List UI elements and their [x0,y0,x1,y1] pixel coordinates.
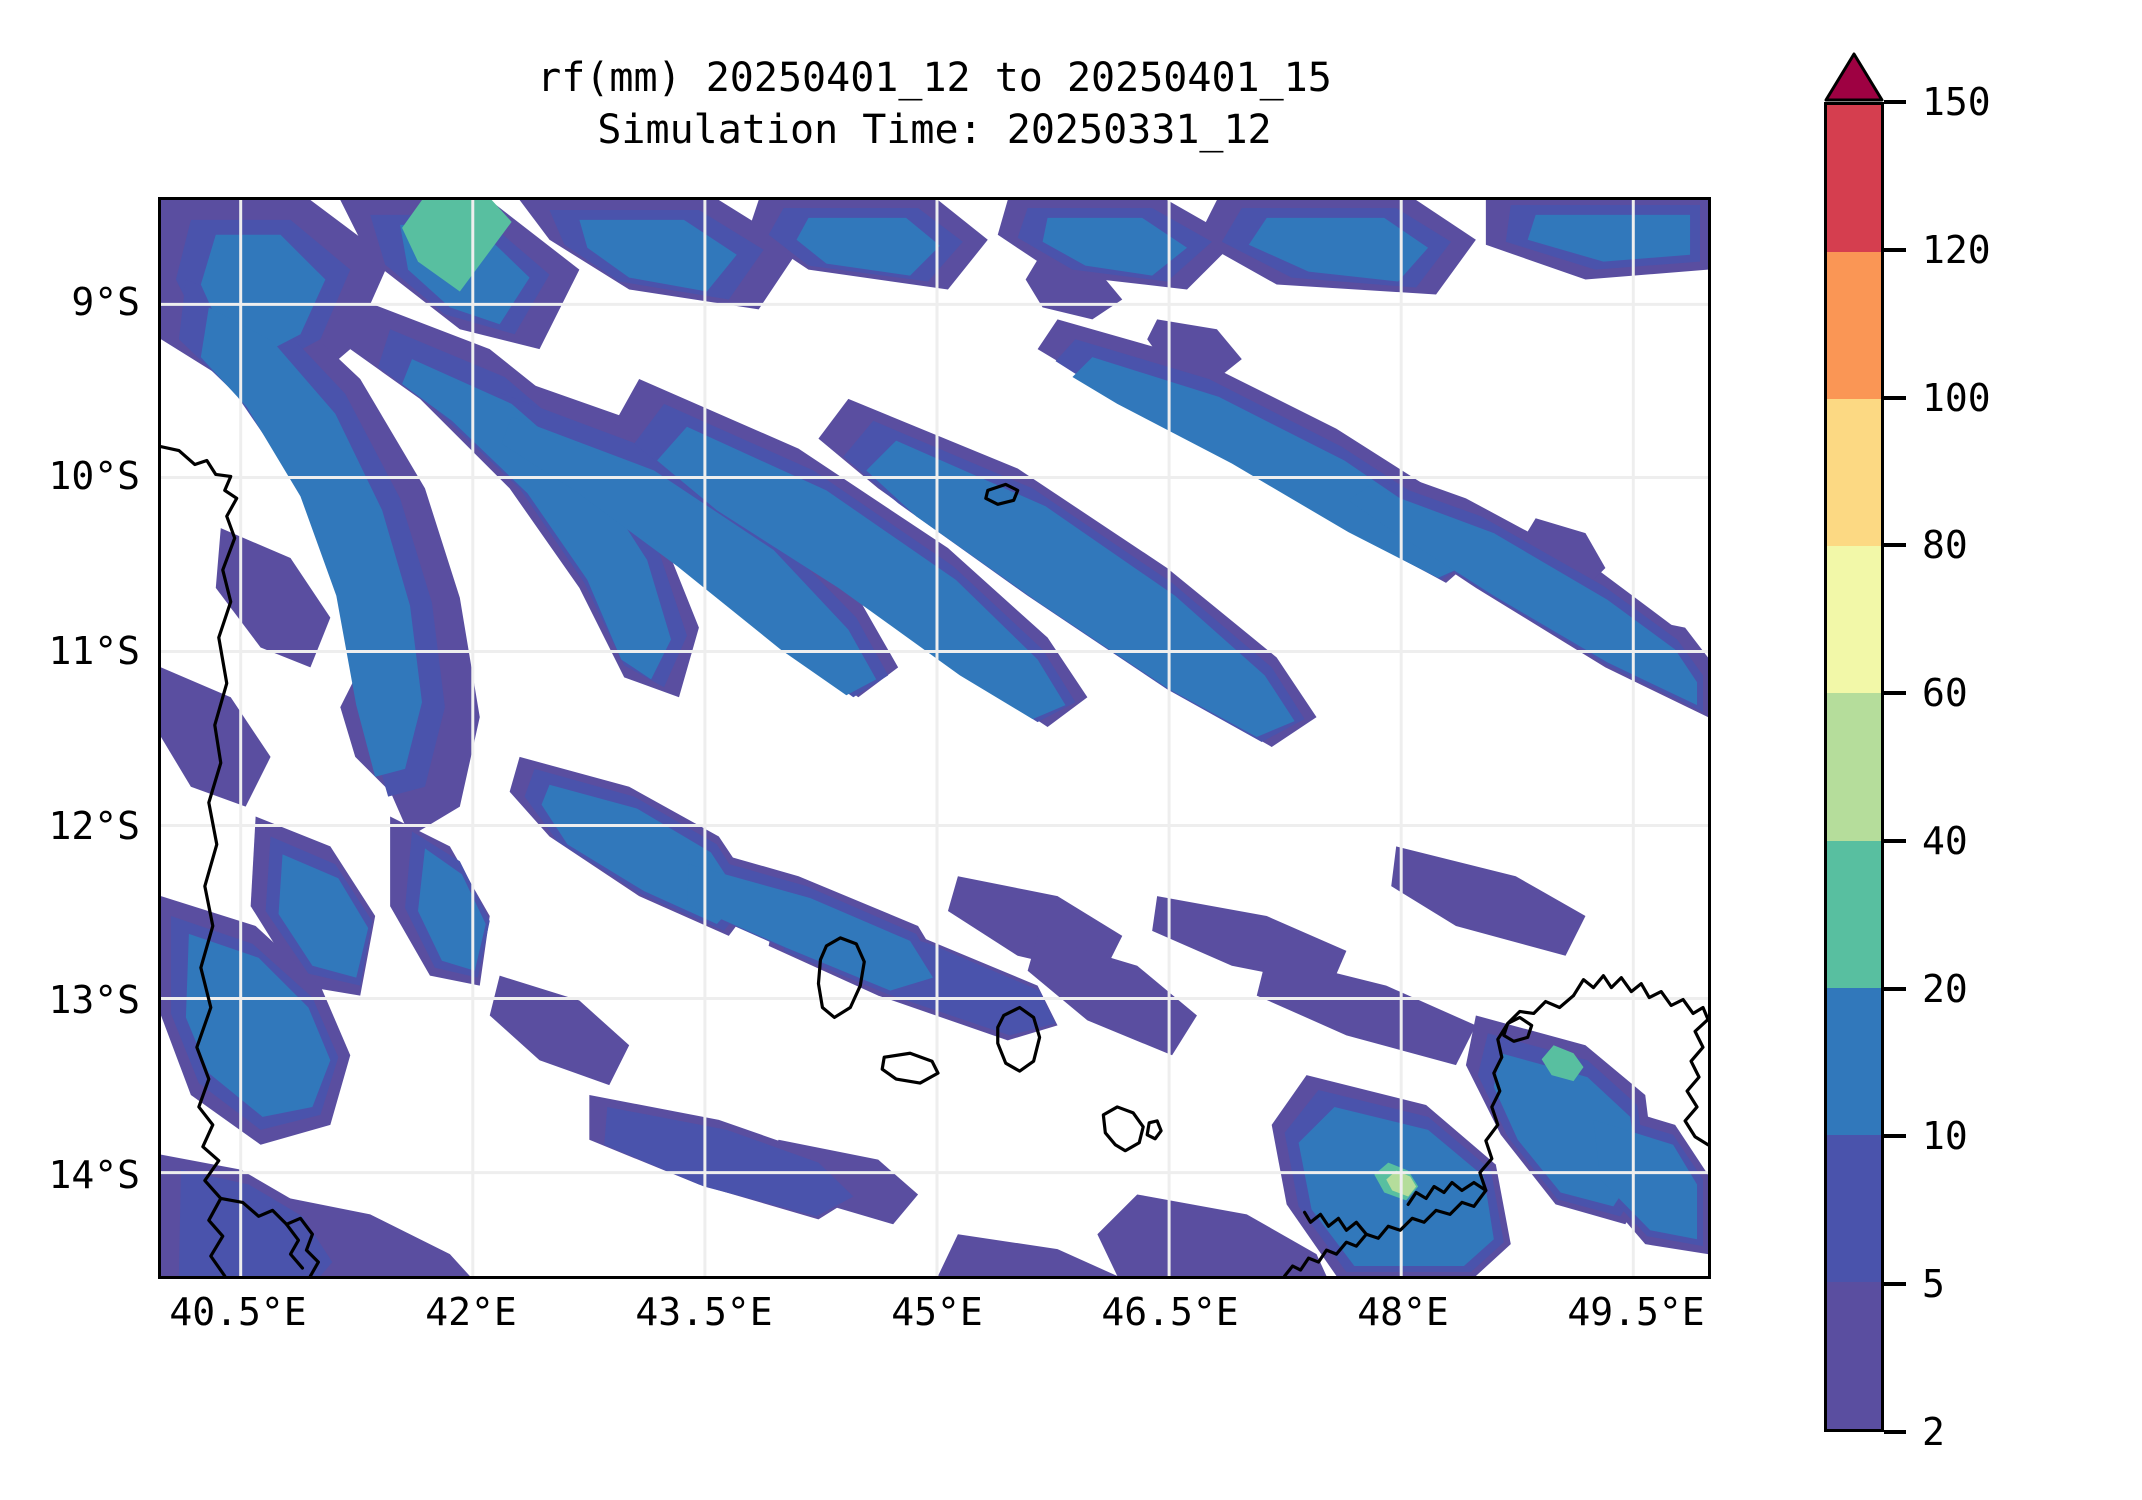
cbtick-mark-80 [1884,543,1906,547]
xtick-45E: 45°E [891,1290,983,1334]
colorbar: 150 120 100 80 60 40 [1824,52,2124,1452]
y-axis-ticklabels: 9°S 10°S 11°S 12°S 13°S 14°S [0,197,140,1279]
xtick-49-5E: 49.5°E [1567,1290,1704,1334]
cb-seg-40-60 [1827,693,1881,840]
cb-seg-20-40 [1827,841,1881,988]
colorbar-bands [1824,102,1884,1432]
xtick-40-5E: 40.5°E [169,1290,306,1334]
ytick-12S: 12°S [48,804,140,848]
colorbar-extend-arrow-icon [1824,52,1884,102]
cbtick-mark-150 [1884,100,1906,104]
cb-seg-100-120 [1827,252,1881,399]
colorbar-ticklabels: 150 120 100 80 60 40 [1884,102,2124,1432]
ytick-11S: 11°S [48,629,140,673]
cb-seg-60-80 [1827,546,1881,693]
title-line-2: Simulation Time: 20250331_12 [158,104,1711,156]
ytick-14S: 14°S [48,1153,140,1197]
title-line-1: rf(mm) 20250401_12 to 20250401_15 [158,52,1711,104]
cbtick-mark-10 [1884,1134,1906,1138]
figure-title: rf(mm) 20250401_12 to 20250401_15 Simula… [158,52,1711,156]
ytick-10S: 10°S [48,454,140,498]
cb-seg-80-100 [1827,399,1881,546]
cbtick-mark-5 [1884,1282,1906,1286]
cbtick-mark-100 [1884,396,1906,400]
ytick-9S: 9°S [71,280,140,324]
ytick-13S: 13°S [48,978,140,1022]
cb-seg-120-150 [1827,105,1881,252]
xtick-46-5E: 46.5°E [1101,1290,1238,1334]
xtick-42E: 42°E [425,1290,517,1334]
precipitation-map-figure: rf(mm) 20250401_12 to 20250401_15 Simula… [0,0,2142,1500]
cb-seg-5-10 [1827,1135,1881,1282]
cb-seg-2-5 [1827,1282,1881,1429]
cbtick-mark-60 [1884,691,1906,695]
cbtick-mark-40 [1884,839,1906,843]
cb-seg-10-20 [1827,988,1881,1135]
xtick-43-5E: 43.5°E [635,1290,772,1334]
precipitation-contour-plot [161,200,1708,1276]
cbtick-mark-20 [1884,987,1906,991]
map-axes [158,197,1711,1279]
cbtick-mark-2 [1884,1430,1906,1434]
xtick-48E: 48°E [1357,1290,1449,1334]
x-axis-ticklabels: 40.5°E 42°E 43.5°E 45°E 46.5°E 48°E 49.5… [158,1290,1711,1360]
cbtick-mark-120 [1884,248,1906,252]
